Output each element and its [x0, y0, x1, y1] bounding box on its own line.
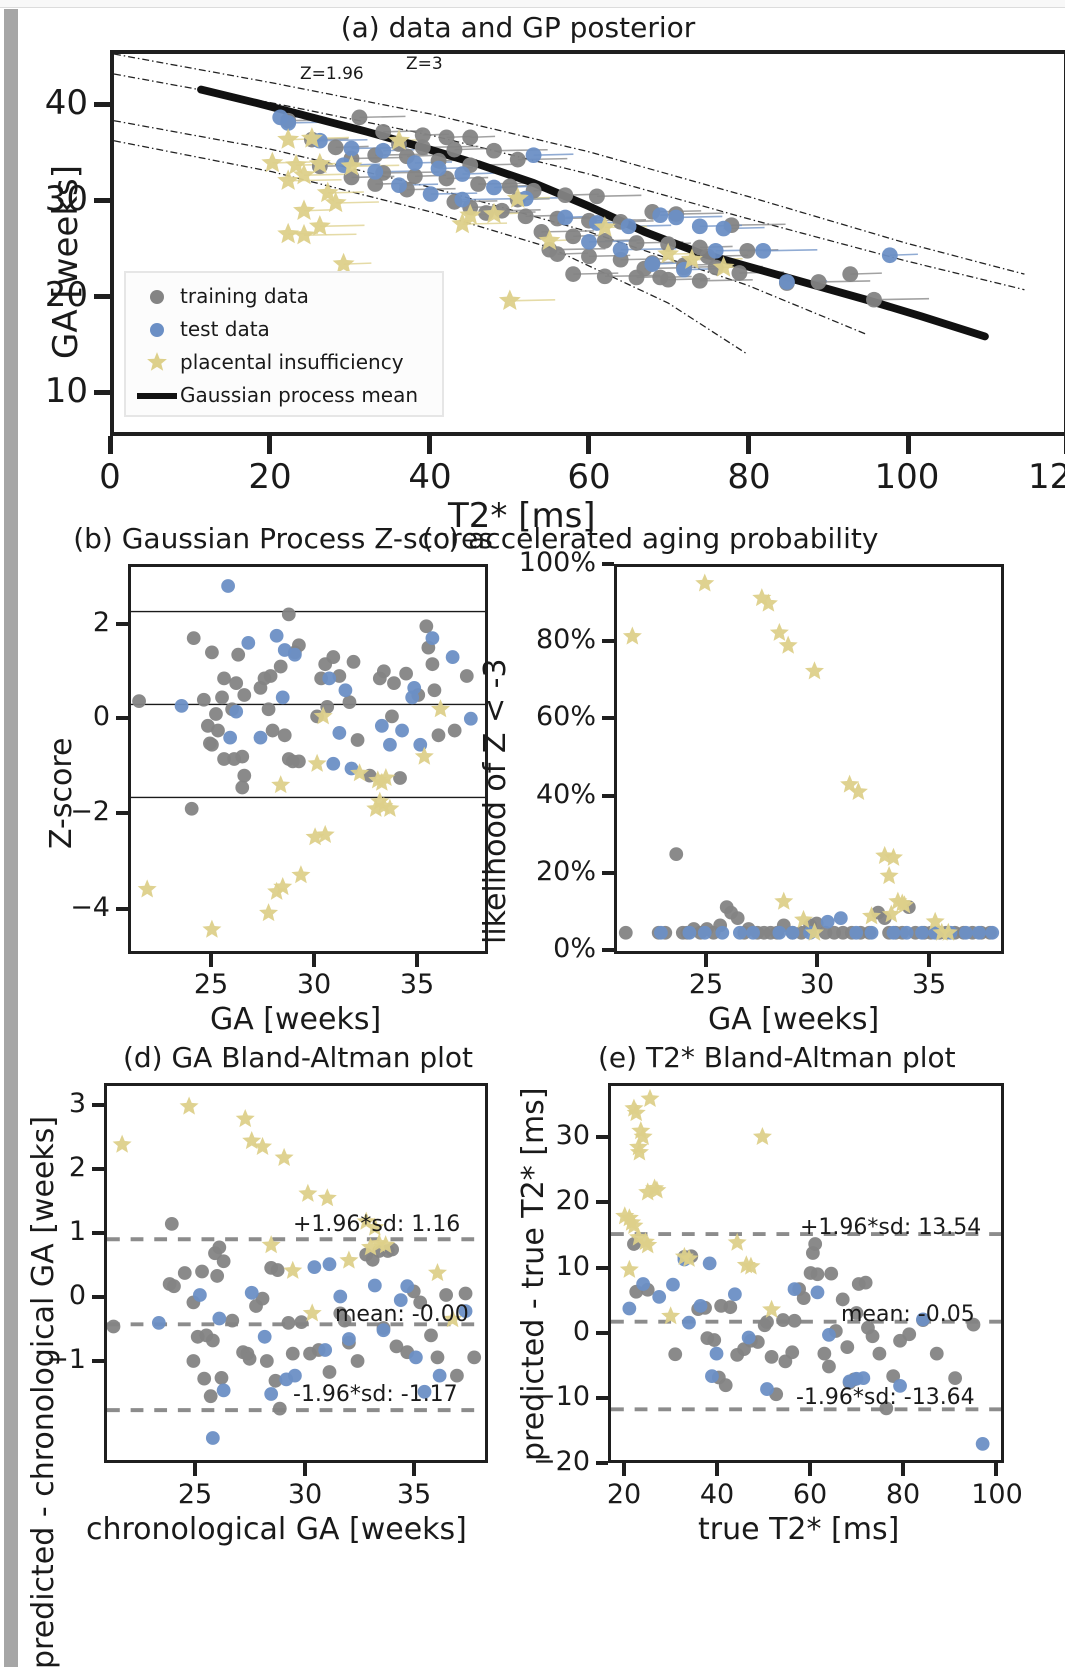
- panel-a-xtick-0: [108, 436, 113, 454]
- viewer-top-band: [0, 0, 1065, 8]
- legend-marker-test-circle-icon: [134, 319, 180, 338]
- panel-c-xticklabel-25: 25: [680, 969, 732, 1000]
- panel-c-ytick-80: [602, 639, 614, 643]
- figure-canvas: (a) data and GP posterior 40 30 20 10 0 …: [18, 9, 1065, 1667]
- panel-e-ytick-0: [596, 1331, 608, 1335]
- legend-marker-training-circle-icon: [134, 286, 180, 305]
- panel-b-yticklabel-2: 2: [54, 607, 110, 638]
- legend-item-test: test data: [134, 312, 432, 345]
- panel-a-yticklabel-10: 10: [32, 371, 88, 411]
- panel-d-upper-loa-label: +1.96*sd: 1.16: [293, 1212, 460, 1237]
- legend-marker-placenta-star-icon: [134, 351, 180, 373]
- vertical-scrollbar[interactable]: [4, 9, 18, 1667]
- panel-d-title: (d) GA Bland-Altman plot: [78, 1041, 518, 1074]
- panel-c-ytick-100: [602, 562, 614, 566]
- panel-a-xticklabel-100: 100: [868, 457, 946, 497]
- panel-a-title: (a) data and GP posterior: [18, 11, 1018, 44]
- panel-a-ylabel: GA [weeks]: [46, 165, 86, 359]
- panel-e-lower-loa-label: -1.96*sd: -13.64: [796, 1385, 975, 1410]
- panel-c-xtick-35: [927, 954, 931, 967]
- panel-e-xlabel: true T2* [ms]: [698, 1512, 899, 1547]
- panel-b-yticklabel-0: 0: [54, 701, 110, 732]
- panel-e-xtick-60: [808, 1463, 812, 1476]
- panel-e-xticklabel-40: 40: [691, 1479, 743, 1510]
- legend-item-training: training data: [134, 279, 432, 312]
- panel-a-xticklabel-60: 60: [558, 457, 620, 497]
- panel-c-xtick-25: [704, 954, 708, 967]
- legend-label-training: training data: [180, 284, 309, 308]
- panel-e-mean-label: mean: -0.05: [841, 1302, 975, 1327]
- panel-e-xticklabel-20: 20: [598, 1479, 650, 1510]
- panel-b-xticklabel-25: 25: [185, 969, 237, 1000]
- panel-d-lower-loa-label: -1.96*sd: -1.17: [293, 1382, 458, 1407]
- panel-b-yticklabel-m4: −4: [54, 892, 110, 923]
- legend-label-test: test data: [180, 317, 270, 341]
- panel-d-xticklabel-25: 25: [169, 1479, 221, 1510]
- panel-a-xticklabel-40: 40: [399, 457, 461, 497]
- panel-a-ytick-40: [94, 102, 110, 107]
- panel-e-xticklabel-60: 60: [784, 1479, 836, 1510]
- panel-c-plot-area: [614, 564, 1004, 954]
- legend-marker-gpmean-line-icon: [134, 385, 180, 404]
- panel-a-ytick-30: [94, 198, 110, 203]
- panel-b-xtick-25: [209, 954, 213, 967]
- panel-e-ylabel: predicted - true T2* [ms]: [516, 1087, 551, 1461]
- panel-b-plot-area: [128, 564, 488, 954]
- panel-e-ytick-20: [596, 1200, 608, 1204]
- panel-c-ytick-40: [602, 794, 614, 798]
- panel-e-xticklabel-80: 80: [877, 1479, 929, 1510]
- panel-b-xticklabel-30: 30: [288, 969, 340, 1000]
- panel-d-ytick-0: [92, 1295, 104, 1299]
- panel-d-xtick-35: [412, 1463, 416, 1476]
- panel-c-xtick-30: [815, 954, 819, 967]
- panel-a-xticklabel-120: 120: [1028, 457, 1065, 497]
- panel-d-xtick-30: [303, 1463, 307, 1476]
- panel-e-ytick-30: [596, 1135, 608, 1139]
- panel-b-xtick-35: [415, 954, 419, 967]
- panel-e-xtick-100: [994, 1463, 998, 1476]
- panel-a-annotation-z196: Z=1.96: [300, 64, 364, 84]
- panel-c-ylabel: likelihood of Z < -3: [478, 658, 513, 944]
- panel-c-xticklabel-30: 30: [791, 969, 843, 1000]
- panel-d-xticklabel-35: 35: [388, 1479, 440, 1510]
- panel-a-xticklabel-80: 80: [718, 457, 780, 497]
- panel-b-ytick-m2: [116, 811, 128, 815]
- panel-a-ytick-10: [94, 390, 110, 395]
- panel-c-yticklabel-100: 100%: [488, 547, 596, 578]
- panel-e-xtick-80: [901, 1463, 905, 1476]
- panel-e-upper-loa-label: +1.96*sd: 13.54: [800, 1215, 981, 1240]
- panel-e-title: (e) T2* Bland-Altman plot: [598, 1041, 1065, 1074]
- panel-e-xtick-40: [715, 1463, 719, 1476]
- panel-a-legend: training data test data placental insuff…: [124, 271, 444, 417]
- panel-a-xtick-100: [906, 436, 911, 454]
- panel-e-ytick-m20: [596, 1461, 608, 1465]
- panel-a-xtick-40: [427, 436, 432, 454]
- panel-a-xtick-60: [586, 436, 591, 454]
- panel-c-ytick-60: [602, 716, 614, 720]
- panel-b-ytick-m4: [116, 907, 128, 911]
- panel-d-ytick-m1: [92, 1359, 104, 1363]
- panel-e-xtick-20: [622, 1463, 626, 1476]
- panel-d-xlabel: chronological GA [weeks]: [86, 1512, 467, 1547]
- panel-c-xticklabel-35: 35: [903, 969, 955, 1000]
- panel-c-yticklabel-80: 80%: [488, 624, 596, 655]
- panel-d-ylabel: predicted - chronological GA [weeks]: [26, 1116, 61, 1669]
- legend-label-placenta: placental insufficiency: [180, 350, 404, 374]
- panel-d-ytick-1: [92, 1231, 104, 1235]
- panel-a-xtick-80: [746, 436, 751, 454]
- panel-a-annotation-z3: Z=3: [406, 54, 443, 74]
- panel-b-xlabel: GA [weeks]: [210, 1002, 381, 1037]
- panel-b-ylabel: Z-score: [44, 738, 79, 849]
- panel-c-xlabel: GA [weeks]: [708, 1002, 879, 1037]
- legend-item-gpmean: Gaussian process mean: [134, 378, 432, 411]
- panel-d-mean-label: mean: -0.00: [335, 1302, 469, 1327]
- panel-e-ytick-m10: [596, 1396, 608, 1400]
- panel-b-ytick-0: [116, 716, 128, 720]
- panel-c-ytick-0: [602, 948, 614, 952]
- panel-d-xtick-25: [193, 1463, 197, 1476]
- panel-b-ytick-2: [116, 622, 128, 626]
- panel-e-ytick-10: [596, 1266, 608, 1270]
- legend-item-placenta: placental insufficiency: [134, 345, 432, 378]
- panel-a-xtick-20: [267, 436, 272, 454]
- panel-a-xticklabel-0: 0: [90, 457, 130, 497]
- panel-a-ytick-20: [94, 294, 110, 299]
- panel-d-ytick-2: [92, 1167, 104, 1171]
- legend-label-gpmean: Gaussian process mean: [180, 383, 418, 407]
- panel-b-xtick-30: [312, 954, 316, 967]
- panel-d-ytick-3: [92, 1103, 104, 1107]
- panel-b-xticklabel-35: 35: [391, 969, 443, 1000]
- panel-e-xticklabel-100: 100: [964, 1479, 1030, 1510]
- panel-c-ytick-20: [602, 871, 614, 875]
- panel-a-yticklabel-40: 40: [32, 83, 88, 123]
- panel-d-xticklabel-30: 30: [279, 1479, 331, 1510]
- panel-d-yticklabel-3: 3: [36, 1088, 86, 1119]
- panel-a-xticklabel-20: 20: [239, 457, 301, 497]
